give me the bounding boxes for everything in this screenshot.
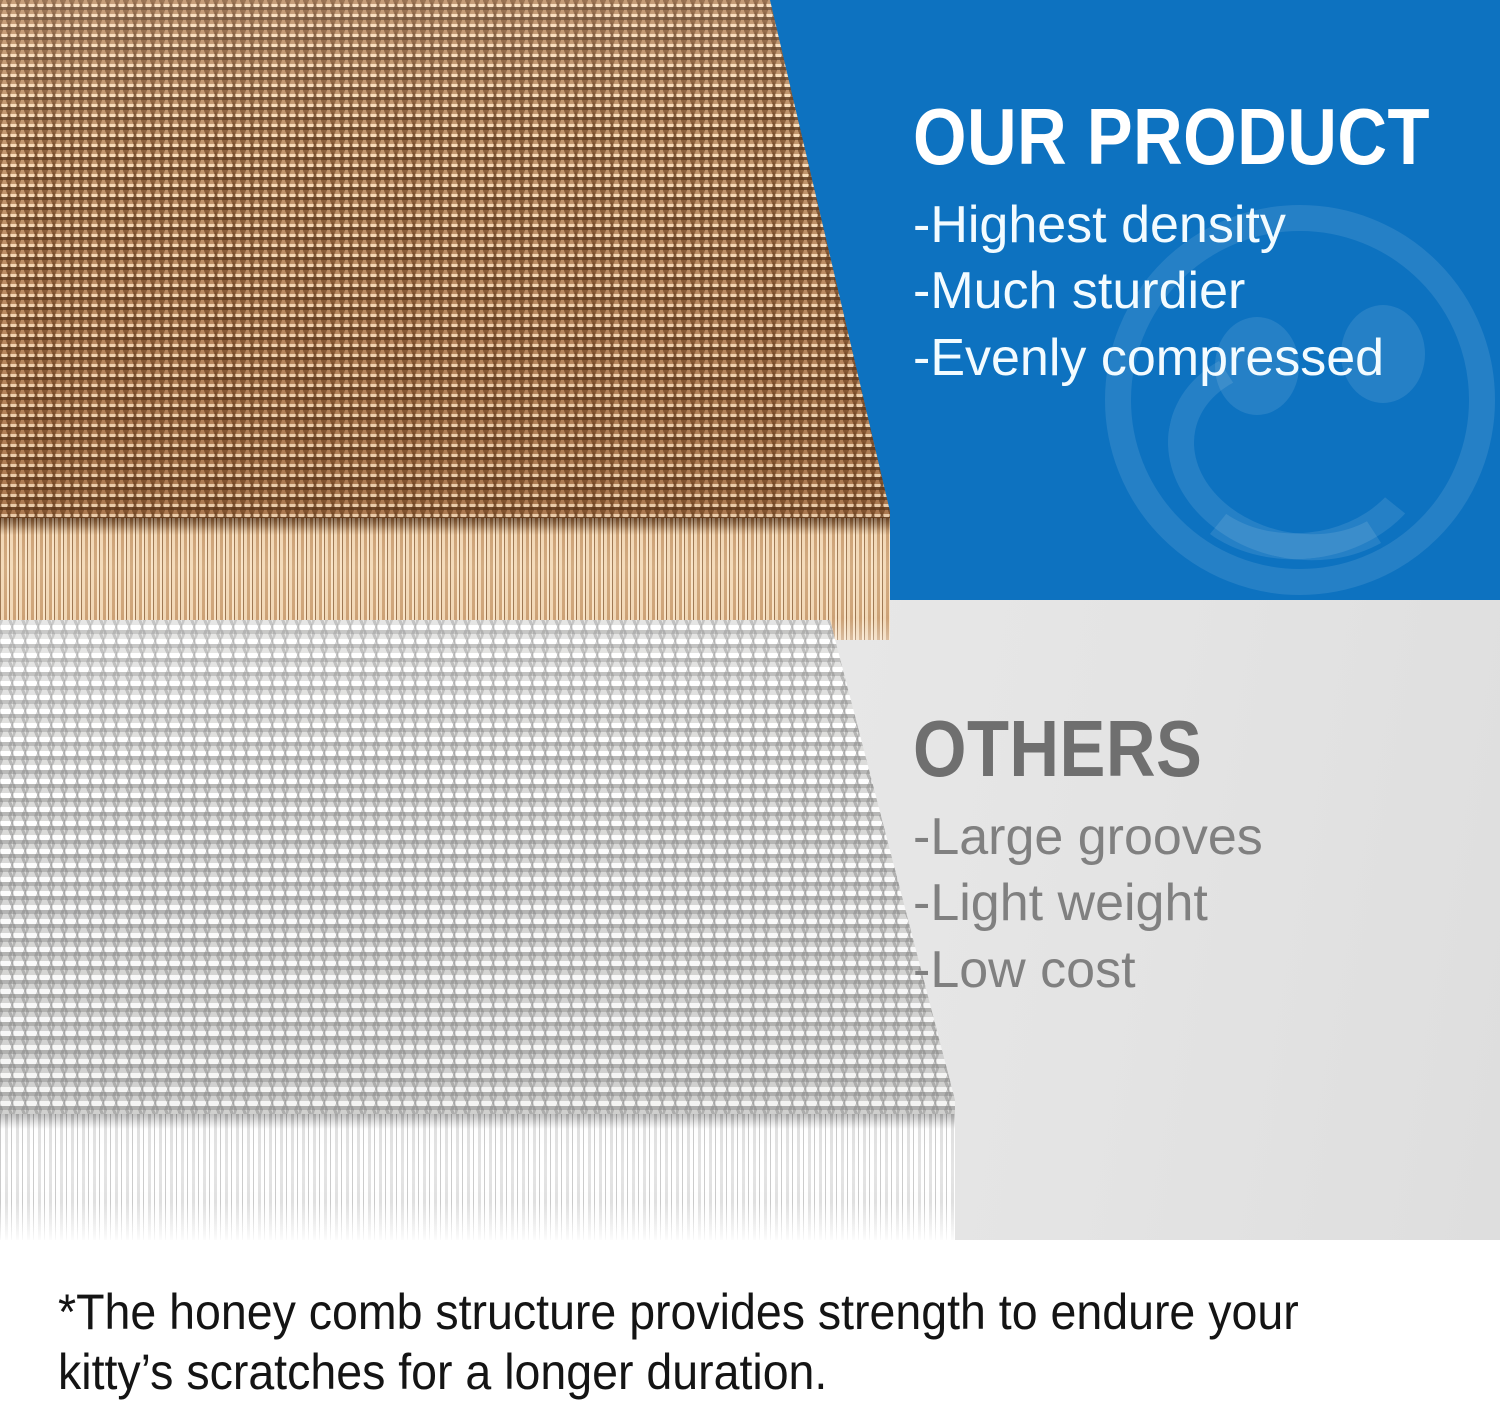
our-product-bullet-3: -Evenly compressed <box>913 325 1493 392</box>
white-competitor-photo <box>0 620 955 1240</box>
our-product-heading: OUR PRODUCT <box>913 100 1412 174</box>
others-bullet-3: -Low cost <box>913 937 1493 1004</box>
cardboard-honeycomb-surface <box>0 0 890 522</box>
our-product-bullet-list: -Highest density -Much sturdier -Evenly … <box>913 192 1493 392</box>
our-product-bullet-2: -Much sturdier <box>913 258 1493 325</box>
others-bullet-1: -Large grooves <box>913 804 1493 871</box>
white-honeycomb-surface <box>0 620 955 1120</box>
footnote-caption: *The honey comb structure provides stren… <box>0 1240 1500 1424</box>
comparison-image-area: OUR PRODUCT -Highest density -Much sturd… <box>0 0 1500 1240</box>
white-edge-profile <box>0 1114 955 1240</box>
others-bullet-2: -Light weight <box>913 870 1493 937</box>
our-product-bullet-1: -Highest density <box>913 192 1493 259</box>
product-comparison-infographic: OUR PRODUCT -Highest density -Much sturd… <box>0 0 1500 1424</box>
caption-text: *The honey comb structure provides stren… <box>58 1282 1345 1402</box>
our-product-text-block: OUR PRODUCT -Highest density -Much sturd… <box>913 100 1493 391</box>
others-bullet-list: -Large grooves -Light weight -Low cost <box>913 804 1493 1004</box>
others-text-block: OTHERS -Large grooves -Light weight -Low… <box>913 712 1493 1003</box>
others-heading: OTHERS <box>913 712 1412 786</box>
cardboard-product-photo <box>0 0 890 640</box>
